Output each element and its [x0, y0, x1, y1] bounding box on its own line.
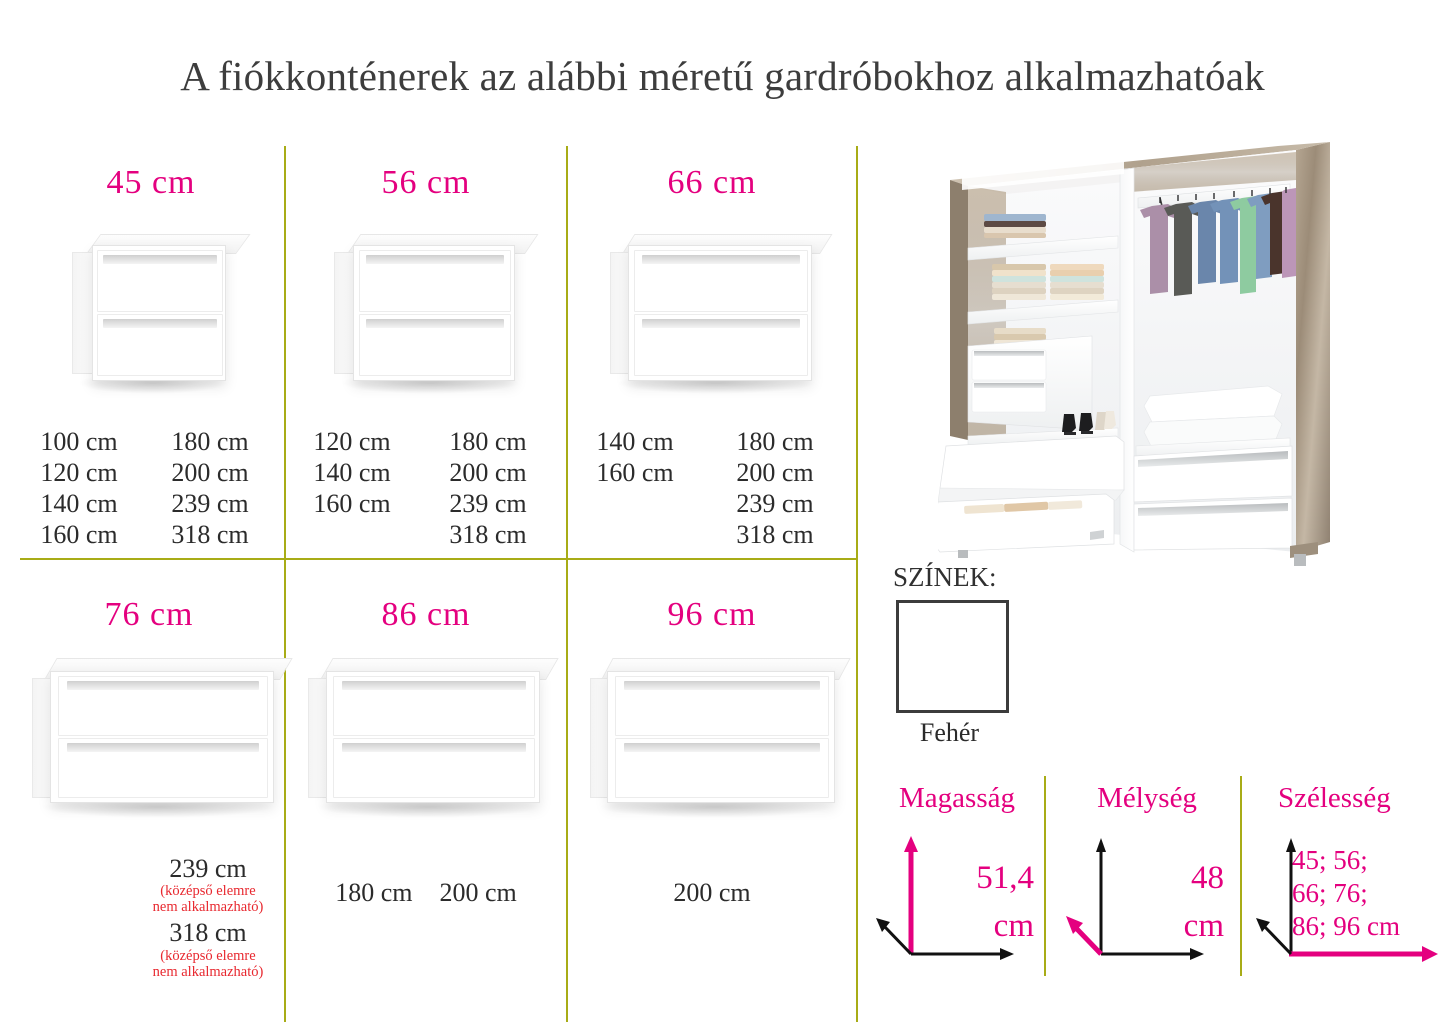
axis-legend-width-values: 45; 56; 66; 76; 86; 96 cm — [1292, 844, 1442, 943]
axis-legend-depth-value: 48 — [1128, 860, 1224, 897]
grid-line-vertical-1 — [284, 146, 286, 560]
axis-legend-height: Magasság 51,4 cm — [876, 782, 1038, 968]
folded-clothes-stack-top — [984, 214, 1046, 238]
garment-pink — [1282, 188, 1296, 278]
cabinet-front — [92, 245, 226, 381]
colors-section-label: SZÍNEK: — [893, 562, 997, 593]
size-cell-56-label: 56 cm — [290, 164, 562, 202]
drawer-handle-lower — [366, 319, 504, 328]
axis-legend-width-title: Szélesség — [1256, 782, 1445, 815]
drawer-handle-upper — [624, 681, 819, 690]
drawer-lower — [333, 738, 534, 798]
cabinet-side-panel — [72, 252, 94, 374]
dimension-value: 318 cm — [138, 519, 282, 550]
size-cell-76-label: 76 cm — [16, 596, 282, 634]
axis-legend-width-value-line: 66; 76; — [1292, 877, 1442, 910]
dimension-column-widths: 120 cm 140 cm 160 cm — [290, 426, 414, 550]
pillows — [1144, 386, 1282, 448]
dimension-value: 318 cm — [414, 519, 562, 550]
grid-line-vertical-5 — [566, 560, 568, 1022]
page-title: A fiókkonténerek az alábbi méretű gardró… — [0, 52, 1445, 100]
drawer-handle-upper — [366, 255, 504, 264]
size-cell-45: 45 cm 100 cm 120 cm 140 cm 160 cm — [20, 164, 282, 554]
dimension-value: 318 cm — [698, 519, 852, 550]
grid-line-vertical-6 — [1044, 776, 1046, 976]
drawer-handle-upper — [103, 255, 217, 264]
drawer-upper — [333, 676, 534, 736]
restriction-note-line-2: nem alkalmazható) — [134, 900, 282, 916]
drawer-lower — [58, 738, 269, 798]
dimension-value: 160 cm — [290, 488, 414, 519]
size-cell-56-dimensions: 120 cm 140 cm 160 cm 180 cm 200 cm 239 c… — [290, 426, 562, 550]
axis-legend-width-value-line: 45; 56; — [1292, 844, 1442, 877]
size-cell-45-dimensions: 100 cm 120 cm 140 cm 160 cm 180 cm 200 c… — [20, 426, 282, 550]
dimension-value: 120 cm — [290, 426, 414, 457]
cabinet-side-panel — [308, 678, 328, 798]
cabinet-front — [628, 245, 812, 381]
cabinet-front — [353, 245, 515, 381]
dimension-value: 180 cm — [138, 426, 282, 457]
dimension-column-heights: 180 cm 200 cm 239 cm 318 cm — [698, 426, 852, 550]
shoes-pair-beige — [1095, 411, 1116, 430]
axis-legend-depth: Mélység 48 cm — [1066, 782, 1228, 968]
size-cell-96-label: 96 cm — [572, 596, 852, 634]
size-cell-86: 86 cm 180 cm 200 cm — [290, 596, 562, 926]
dimension-value: 140 cm — [20, 488, 138, 519]
axis-legend-width-value-line: 86; 96 cm — [1292, 910, 1442, 943]
dimension-column-widths: 100 cm 120 cm 140 cm 160 cm — [20, 426, 138, 550]
drawer-upper — [97, 250, 223, 312]
axis-legend-width: Szélesség 45; 56; 66; 76; 86; 96 cm — [1256, 782, 1442, 968]
restriction-note-239: (középső elemre nem alkalmazható) — [134, 884, 282, 915]
restriction-note-line-1: (középső elemre — [134, 949, 282, 965]
dimension-value: 100 cm — [20, 426, 138, 457]
wardrobe-photo — [938, 140, 1358, 572]
drawer-unit-45-image — [72, 234, 232, 389]
dimension-value: 318 cm — [134, 917, 282, 949]
axis-legend-height-title: Magasság — [876, 782, 1038, 815]
size-cell-66-dimensions: 140 cm 160 cm 180 cm 200 cm 239 cm 318 c… — [572, 426, 852, 550]
drawer-handle-upper — [642, 255, 799, 264]
size-cell-76-height-column: 239 cm (középső elemre nem alkalmazható)… — [134, 854, 282, 980]
drawer-handle-upper — [342, 681, 525, 690]
dimension-value: 180 cm — [414, 426, 562, 457]
cabinet-side-panel — [32, 678, 52, 798]
drawer-lower — [634, 314, 807, 376]
size-cell-86-label: 86 cm — [290, 596, 562, 634]
dimension-value: 180 cm — [698, 426, 852, 457]
dimension-column-widths: 140 cm 160 cm — [572, 426, 698, 550]
size-cell-96-dimensions: 200 cm — [572, 878, 852, 908]
dimension-value: 160 cm — [572, 457, 698, 488]
cabinet-front — [50, 671, 274, 803]
axis-legend-height-unit: cm — [938, 908, 1034, 945]
wardrobe-bottom-drawers-left-open — [938, 436, 1124, 552]
wardrobe-foot — [958, 550, 968, 558]
dimension-value: 200 cm — [138, 457, 282, 488]
axis-legend-depth-unit: cm — [1128, 908, 1224, 945]
cabinet-side-panel — [334, 252, 355, 374]
cabinet-front — [607, 671, 835, 803]
drawer-handle-lower — [342, 743, 525, 752]
wardrobe-center-divider — [1120, 168, 1134, 552]
size-cell-45-label: 45 cm — [20, 164, 282, 202]
color-swatch-label: Fehér — [896, 718, 1003, 748]
dimension-value: 239 cm — [134, 854, 282, 884]
grid-line-vertical-2 — [566, 146, 568, 560]
folded-clothes-stack-middle-right — [1050, 264, 1104, 300]
axis-legend-depth-title: Mélység — [1066, 782, 1228, 815]
drawer-handle-lower — [103, 319, 217, 328]
drawer-handle-upper — [67, 681, 259, 690]
dimension-value: 180 cm — [335, 878, 412, 907]
dimension-value: 140 cm — [290, 457, 414, 488]
grid-line-vertical-3 — [856, 146, 858, 1022]
restriction-note-318: (középső elemre nem alkalmazható) — [134, 949, 282, 980]
cabinet-side-panel — [610, 252, 630, 374]
drawer-upper — [58, 676, 269, 736]
drawer-unit-76-image — [32, 658, 280, 813]
drawer-upper — [615, 676, 829, 736]
dimension-value: 200 cm — [673, 878, 750, 907]
drawer-upper — [359, 250, 511, 312]
dimension-value: 120 cm — [20, 457, 138, 488]
drawer-unit-56-image — [334, 234, 524, 389]
dimension-value: 200 cm — [414, 457, 562, 488]
drawer-unit-96-image — [590, 658, 838, 813]
size-cell-76: 76 cm 239 cm (középső elemr — [16, 596, 282, 1016]
drawer-lower — [97, 314, 223, 376]
drawer-unit-66-image — [610, 234, 820, 389]
grid-line-horizontal-1 — [20, 558, 858, 560]
size-cell-86-dimensions: 180 cm 200 cm — [290, 878, 562, 908]
grid-line-vertical-4 — [284, 560, 286, 1022]
dimension-value: 140 cm — [572, 426, 698, 457]
drawer-handle-lower — [67, 743, 259, 752]
restriction-note-line-1: (középső elemre — [134, 884, 282, 900]
dimension-value: 200 cm — [440, 878, 517, 907]
dimension-value: 200 cm — [698, 457, 852, 488]
axis-legend-height-value: 51,4 — [938, 860, 1034, 897]
wardrobe-foot — [1294, 554, 1306, 566]
drawer-lower — [615, 738, 829, 798]
dimension-value: 239 cm — [414, 488, 562, 519]
grid-line-vertical-7 — [1240, 776, 1242, 976]
drawer-handle-lower — [642, 319, 799, 328]
drawer-unit-86-image — [308, 658, 546, 813]
size-cell-56: 56 cm 120 cm 140 cm 160 cm 180 cm — [290, 164, 562, 554]
color-swatch-white[interactable] — [896, 600, 1009, 713]
dimension-value: 160 cm — [20, 519, 138, 550]
dimension-column-heights: 180 cm 200 cm 239 cm 318 cm — [414, 426, 562, 550]
drawer-lower — [359, 314, 511, 376]
wardrobe-illustration — [938, 140, 1358, 572]
dimension-column-heights: 180 cm 200 cm 239 cm 318 cm — [138, 426, 282, 550]
restriction-note-line-2: nem alkalmazható) — [134, 965, 282, 981]
drawer-handle-lower — [624, 743, 819, 752]
folded-clothes-stack-middle-left — [992, 264, 1046, 300]
size-cell-96: 96 cm 200 cm — [572, 596, 852, 926]
size-cell-66: 66 cm 140 cm 160 cm 180 cm 200 cm — [572, 164, 852, 554]
wardrobe-right-panel — [1296, 142, 1330, 552]
infographic-canvas: A fiókkonténerek az alábbi méretű gardró… — [0, 0, 1445, 1022]
wardrobe-left-panel — [950, 180, 968, 440]
size-cell-66-label: 66 cm — [572, 164, 852, 202]
cabinet-front — [326, 671, 540, 803]
dimension-value: 239 cm — [138, 488, 282, 519]
dimension-value: 239 cm — [698, 488, 852, 519]
drawer-upper — [634, 250, 807, 312]
